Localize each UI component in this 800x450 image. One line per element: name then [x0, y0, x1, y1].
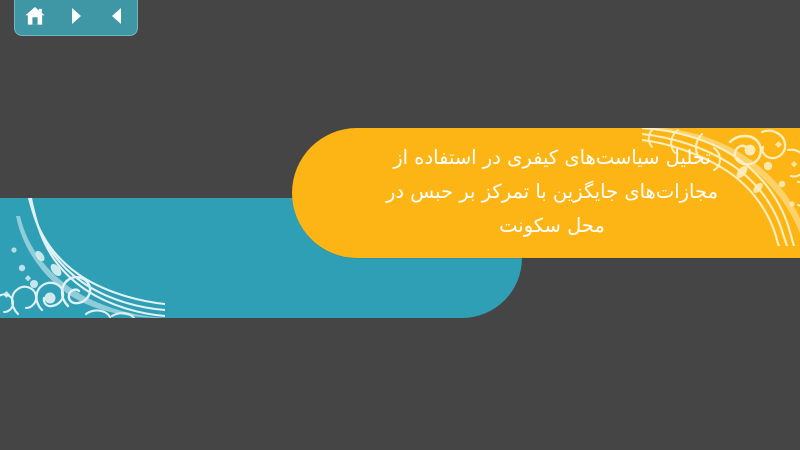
- previous-slide-button[interactable]: [102, 1, 132, 31]
- slide-title-line-3: محل سکونت: [499, 209, 605, 243]
- home-icon: [24, 5, 46, 27]
- triangle-left-icon: [107, 6, 127, 26]
- home-button[interactable]: [20, 1, 50, 31]
- next-slide-button[interactable]: [61, 1, 91, 31]
- triangle-right-icon: [66, 6, 86, 26]
- slide-title-line-1: تحلیل سیاست‌های کیفری در استفاده از: [393, 141, 711, 175]
- yellow-title-banner: تحلیل سیاست‌های کیفری در استفاده از مجاز…: [292, 128, 800, 258]
- slide-title: تحلیل سیاست‌های کیفری در استفاده از مجاز…: [292, 128, 800, 258]
- slide-title-line-2: مجازات‌های جایگزین با تمرکز بر حبس در: [386, 175, 718, 209]
- slide-canvas: تحلیل سیاست‌های کیفری در استفاده از مجاز…: [0, 0, 800, 450]
- navigation-bar: [14, 0, 138, 36]
- teal-banner-ornament-icon: [0, 198, 165, 318]
